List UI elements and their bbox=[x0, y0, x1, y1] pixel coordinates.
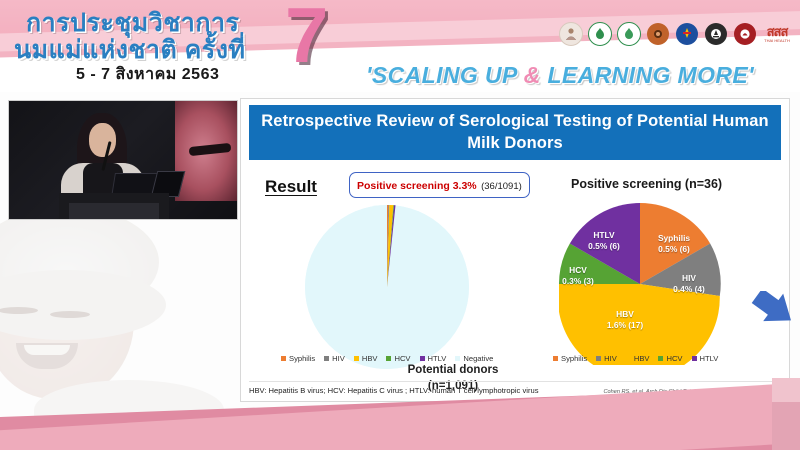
sponsor-logo-row: สสส THAI HEALTH bbox=[559, 22, 792, 46]
legend-right: Syphilis HIV HBV HCV HTLV bbox=[553, 354, 718, 363]
legend-item-hiv: HIV bbox=[324, 354, 345, 363]
slide-title-bar: Retrospective Review of Serological Test… bbox=[249, 105, 781, 160]
potential-donors-pie-chart: Potential donors (n=1,091) bbox=[305, 205, 469, 369]
slice-label-hiv: HIV 0.4% (4) bbox=[665, 273, 713, 295]
legend-left: Syphilis HIV HBV HCV HTLV Negative bbox=[281, 354, 493, 363]
legend-r-item-hiv: HIV bbox=[596, 354, 617, 363]
slice-label-htlv-value: 0.5% (6) bbox=[579, 241, 629, 252]
logo-foundation-icon bbox=[559, 22, 583, 46]
legend-left-label-3: HCV bbox=[394, 354, 410, 363]
legend-right-label-0: Syphilis bbox=[561, 354, 587, 363]
legend-left-label-2: HBV bbox=[362, 354, 378, 363]
legend-right-label-1: HIV bbox=[604, 354, 617, 363]
tagline-part1: 'SCALING UP bbox=[366, 62, 524, 88]
logo-sss-icon: สสส THAI HEALTH bbox=[762, 25, 792, 43]
legend-item-hbv: HBV bbox=[354, 354, 378, 363]
slice-label-hbv-name: HBV bbox=[599, 309, 651, 320]
logo-university-icon bbox=[675, 23, 699, 45]
slice-label-htlv: HTLV 0.5% (6) bbox=[579, 230, 629, 252]
slice-label-hiv-name: HIV bbox=[665, 273, 713, 284]
right-edge-pink-band-light bbox=[772, 378, 800, 402]
callout-percent: Positive screening 3.3% bbox=[357, 180, 477, 192]
legend-item-hcv: HCV bbox=[386, 354, 410, 363]
slice-label-hbv-value: 1.6% (17) bbox=[599, 320, 651, 331]
legend-left-label-0: Syphilis bbox=[289, 354, 315, 363]
legend-item-syphilis: Syphilis bbox=[281, 354, 315, 363]
legend-item-negative: Negative bbox=[455, 354, 493, 363]
callout-fraction: (36/1091) bbox=[481, 181, 522, 192]
slice-label-hcv-value: 0.3% (3) bbox=[555, 276, 601, 287]
legend-right-label-3: HCV bbox=[666, 354, 682, 363]
logo-health-green-2-icon bbox=[617, 22, 641, 46]
legend-r-item-hcv: HCV bbox=[658, 354, 682, 363]
slice-label-hbv: HBV 1.6% (17) bbox=[599, 309, 651, 331]
slice-label-syphilis-name: Syphilis bbox=[645, 233, 703, 244]
podium-front bbox=[69, 203, 159, 219]
abbreviation-legend: HBV: Hepatitis B virus; HCV: Hepatitis C… bbox=[249, 386, 539, 395]
logo-red-seal-icon bbox=[733, 23, 757, 45]
legend-right-label-2: HBV bbox=[634, 354, 650, 363]
legend-right-label-4: HTLV bbox=[700, 354, 719, 363]
positive-screening-callout: Positive screening 3.3% (36/1091) bbox=[349, 172, 530, 198]
slice-label-hcv-name: HCV bbox=[555, 265, 601, 276]
legend-left-label-4: HTLV bbox=[428, 354, 447, 363]
speaker-face bbox=[89, 123, 116, 157]
conference-banner: การประชุมวิชาการ นมแม่แห่งชาติ ครั้งที่ … bbox=[0, 0, 800, 92]
presentation-slide: Retrospective Review of Serological Test… bbox=[240, 98, 790, 402]
slice-label-htlv-name: HTLV bbox=[579, 230, 629, 241]
legend-left-label-5: Negative bbox=[463, 354, 493, 363]
legend-r-item-syphilis: Syphilis bbox=[553, 354, 587, 363]
logo-black-seal-icon bbox=[704, 23, 728, 45]
conference-date: 5 - 7 สิงหาคม 2563 bbox=[76, 62, 219, 87]
conference-edition-number: 7 bbox=[285, 0, 328, 74]
right-chart-heading: Positive screening (n=36) bbox=[571, 177, 722, 191]
legend-r-item-hbv: HBV bbox=[626, 354, 650, 363]
conference-tagline: 'SCALING UP & LEARNING MORE' bbox=[366, 62, 754, 89]
tagline-ampersand: & bbox=[524, 62, 541, 88]
slice-label-hcv: HCV 0.3% (3) bbox=[555, 265, 601, 287]
slice-label-syphilis: Syphilis 0.5% (6) bbox=[645, 233, 703, 255]
logo-royal-seal-icon bbox=[646, 23, 670, 45]
slide-screen: การประชุมวิชาการ นมแม่แห่งชาติ ครั้งที่ … bbox=[0, 0, 800, 450]
logo-health-green-1-icon bbox=[588, 22, 612, 46]
presenter-video[interactable] bbox=[8, 100, 238, 220]
baby-watermark-image bbox=[0, 215, 244, 430]
pie-left-title: Potential donors bbox=[353, 363, 553, 379]
tagline-part2: LEARNING MORE' bbox=[541, 62, 754, 88]
legend-item-htlv: HTLV bbox=[420, 354, 447, 363]
positive-screening-pie-chart: Syphilis 0.5% (6) HIV 0.4% (4) HBV 1.6% … bbox=[559, 203, 721, 365]
legend-left-label-1: HIV bbox=[332, 354, 345, 363]
pie-left-slivers bbox=[305, 205, 469, 369]
slice-label-syphilis-value: 0.5% (6) bbox=[645, 244, 703, 255]
slice-label-hiv-value: 0.4% (4) bbox=[665, 284, 713, 295]
slide-title-text: Retrospective Review of Serological Test… bbox=[249, 111, 781, 153]
legend-r-item-htlv: HTLV bbox=[692, 354, 719, 363]
flow-arrow-icon bbox=[751, 291, 800, 339]
result-heading: Result bbox=[265, 177, 317, 197]
